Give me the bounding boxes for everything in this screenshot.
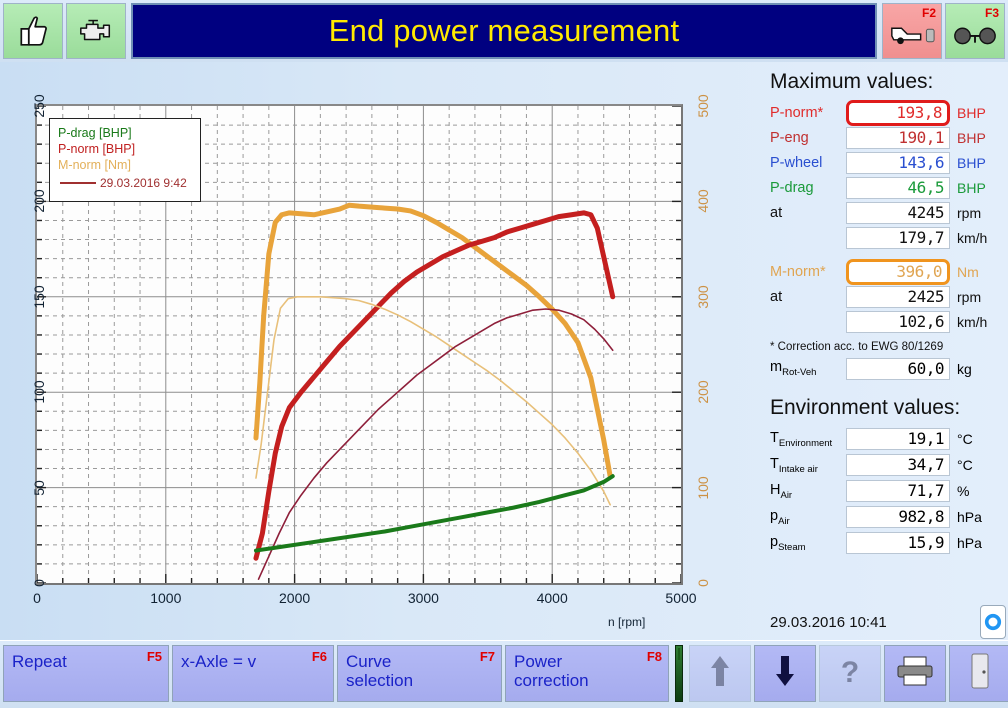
env-value-air: 71,7 (846, 480, 950, 502)
torque-value-m-norm-: 396,0 (846, 259, 950, 285)
max-label-p-wheel: P-wheel (770, 155, 846, 171)
max-row-p-drag: P-drag46,5BHP (770, 175, 998, 200)
max-value-p-drag: 46,5 (846, 177, 950, 199)
env-row-steam: pSteam15,9hPa (770, 530, 998, 556)
footer-label-x-axle-v: x-Axle = v (181, 652, 325, 671)
arrow-down-icon (770, 652, 800, 695)
torque-label-m-norm-: M-norm* (770, 264, 846, 280)
footer-arrow-down-button[interactable] (754, 645, 816, 702)
curve-p-drag-bhp (256, 476, 613, 550)
x-tick-3000: 3000 (408, 590, 439, 606)
torque-unit-m-norm-: Nm (950, 264, 998, 280)
footer-button-repeat[interactable]: F5Repeat (3, 645, 169, 702)
footer-label-repeat: Repeat (12, 652, 160, 671)
env-row-air: HAir71,7% (770, 478, 998, 504)
mass-unit: kg (950, 361, 998, 377)
page-title: End power measurement (329, 13, 680, 49)
f2-vehicle-button[interactable]: F2 (882, 3, 942, 59)
footer-label-power-correction: Powercorrection (514, 652, 660, 690)
max-row-p-norm-: P-norm*193,8BHP (770, 100, 998, 125)
y-right-tick-200: 200 (695, 381, 711, 404)
env-value-air: 982,8 (846, 506, 950, 528)
function-buttons: F5RepeatF6x-Axle = vF7CurveselectionF8Po… (3, 645, 669, 702)
env-label-air: HAir (770, 482, 846, 501)
torque-unit-at: rpm (950, 289, 998, 305)
thumbs-up-button[interactable] (3, 3, 63, 59)
max-unit-p-norm-: BHP (950, 105, 998, 121)
status-led-bar (675, 645, 683, 702)
max-unit-p-wheel: BHP (950, 155, 998, 171)
top-toolbar: End power measurement F2 F3 (0, 0, 1008, 62)
footer-fkey-x-axle-v: F6 (312, 649, 327, 664)
footer-printer-button[interactable] (884, 645, 946, 702)
icon-buttons: ? (689, 645, 1008, 702)
max-label-p-drag: P-drag (770, 180, 846, 196)
printer-icon (895, 655, 935, 692)
engine-button[interactable] (66, 3, 126, 59)
env-value-environment: 19,1 (846, 428, 950, 450)
x-axis-title: n [rpm] (608, 615, 645, 629)
f3-key-label: F3 (985, 6, 999, 20)
f2-key-label: F2 (922, 6, 936, 20)
env-row-environment: TEnvironment19,1°C (770, 426, 998, 452)
chart-area: 050100150200250 0100200300400500 0100020… (0, 62, 756, 640)
legend-item-p-norm: P-norm [BHP] (58, 141, 192, 157)
mass-row: mRot-Veh 60,0 kg (770, 356, 998, 381)
values-panel: Maximum values: P-norm*193,8BHPP-eng190,… (756, 62, 1008, 640)
curve-m-norm-nm (256, 205, 610, 476)
y-right-tick-500: 500 (695, 94, 711, 117)
footer-arrow-up-button (689, 645, 751, 702)
max-unit-km-h: km/h (950, 230, 998, 246)
env-label-air: pAir (770, 508, 846, 527)
max-value-p-norm-: 193,8 (846, 100, 950, 126)
curve-m-wheel (256, 297, 610, 505)
maximum-values-heading: Maximum values: (770, 70, 998, 94)
max-value-km-h: 179,7 (846, 227, 950, 249)
env-unit-steam: hPa (950, 535, 998, 551)
max-row-at: at4245rpm (770, 200, 998, 225)
y-left-tick-250: 250 (31, 94, 47, 117)
x-tick-1000: 1000 (150, 590, 181, 606)
y-right-tick-100: 100 (695, 476, 711, 499)
x-tick-2000: 2000 (279, 590, 310, 606)
footer-fkey-power-correction: F8 (647, 649, 662, 664)
env-unit-air: % (950, 483, 998, 499)
env-value-intake-air: 34,7 (846, 454, 950, 476)
curve-p-norm-bhp (256, 213, 613, 558)
y-right-tick-0: 0 (695, 579, 711, 587)
torque-value-km-h: 102,6 (846, 311, 950, 333)
info-badge-icon[interactable] (980, 605, 1006, 639)
window-title-bar: End power measurement (131, 3, 877, 59)
torque-label-at: at (770, 289, 846, 305)
y-left-tick-50: 50 (31, 480, 47, 496)
plot-frame[interactable]: 050100150200250 0100200300400500 0100020… (35, 104, 683, 585)
env-row-air: pAir982,8hPa (770, 504, 998, 530)
axle-wheels-icon (951, 22, 999, 48)
environment-values-list: TEnvironment19,1°CTIntake air34,7°CHAir7… (770, 426, 998, 556)
max-unit-at: rpm (950, 205, 998, 221)
y-right-tick-300: 300 (695, 285, 711, 308)
help-icon: ? (835, 652, 865, 695)
env-unit-environment: °C (950, 431, 998, 447)
correction-note: * Correction acc. to EWG 80/1269 (770, 341, 998, 353)
door-exit-icon (967, 652, 993, 695)
curve-p-wheel (259, 309, 613, 579)
torque-row-km-h: 102,6km/h (770, 309, 998, 334)
legend-line-swatch (60, 182, 96, 184)
max-row-p-eng: P-eng190,1BHP (770, 125, 998, 150)
f3-axle-button[interactable]: F3 (945, 3, 1005, 59)
car-roller-icon (888, 22, 936, 48)
max-value-p-eng: 190,1 (846, 127, 950, 149)
x-tick-5000: 5000 (665, 590, 696, 606)
env-row-intake-air: TIntake air34,7°C (770, 452, 998, 478)
environment-values-heading: Environment values: (770, 396, 998, 420)
y-left-tick-150: 150 (31, 285, 47, 308)
torque-row-at: at2425rpm (770, 284, 998, 309)
legend-item-m-norm: M-norm [Nm] (58, 157, 192, 173)
env-unit-intake-air: °C (950, 457, 998, 473)
max-label-p-norm-: P-norm* (770, 105, 846, 121)
dyno-application-window: End power measurement F2 F3 05010015 (0, 0, 1008, 708)
footer-button-power-correction[interactable]: F8Powercorrection (505, 645, 669, 702)
footer-label-curve-selection: Curveselection (346, 652, 493, 690)
engine-icon (77, 16, 115, 46)
env-unit-air: hPa (950, 509, 998, 525)
footer-fkey-curve-selection: F7 (480, 649, 495, 664)
x-tick-4000: 4000 (537, 590, 568, 606)
max-label-p-eng: P-eng (770, 130, 846, 146)
max-row-km-h: 179,7km/h (770, 225, 998, 250)
env-label-environment: TEnvironment (770, 430, 846, 449)
env-value-steam: 15,9 (846, 532, 950, 554)
chart-legend: P-drag [BHP] P-norm [BHP] M-norm [Nm] 29… (49, 118, 201, 202)
bottom-toolbar: F5RepeatF6x-Axle = vF7CurveselectionF8Po… (0, 640, 1008, 708)
footer-fkey-repeat: F5 (147, 649, 162, 664)
y-left-tick-100: 100 (31, 381, 47, 404)
x-tick-0: 0 (33, 590, 41, 606)
mass-label: mRot-Veh (770, 359, 846, 378)
env-label-steam: pSteam (770, 534, 846, 553)
thumbs-up-icon (16, 14, 50, 48)
y-left-tick-0: 0 (31, 579, 47, 587)
mass-value: 60,0 (846, 358, 950, 380)
torque-unit-km-h: km/h (950, 314, 998, 330)
info-badge-glyph (984, 613, 1002, 631)
measurement-timestamp: 29.03.2016 10:41 (770, 614, 887, 631)
legend-item-p-drag: P-drag [BHP] (58, 125, 192, 141)
max-label-at: at (770, 205, 846, 221)
arrow-up-icon (705, 652, 735, 695)
torque-values-list: M-norm*396,0Nmat2425rpm102,6km/h (770, 259, 998, 334)
torque-row-m-norm-: M-norm*396,0Nm (770, 259, 998, 284)
legend-item-date: 29.03.2016 9:42 (58, 173, 192, 191)
max-unit-p-drag: BHP (950, 180, 998, 196)
footer-door-exit-button[interactable] (949, 645, 1008, 702)
max-value-p-wheel: 143,6 (846, 152, 950, 174)
max-unit-p-eng: BHP (950, 130, 998, 146)
y-left-tick-200: 200 (31, 190, 47, 213)
max-row-p-wheel: P-wheel143,6BHP (770, 150, 998, 175)
svg-text:?: ? (841, 656, 859, 689)
maximum-values-list: P-norm*193,8BHPP-eng190,1BHPP-wheel143,6… (770, 100, 998, 250)
legend-date-label: 29.03.2016 9:42 (100, 176, 187, 190)
footer-button-x-axle-v[interactable]: F6x-Axle = v (172, 645, 334, 702)
torque-value-at: 2425 (846, 286, 950, 308)
env-label-intake-air: TIntake air (770, 456, 846, 475)
max-value-at: 4245 (846, 202, 950, 224)
y-right-tick-400: 400 (695, 190, 711, 213)
footer-button-curve-selection[interactable]: F7Curveselection (337, 645, 502, 702)
footer-help-button: ? (819, 645, 881, 702)
